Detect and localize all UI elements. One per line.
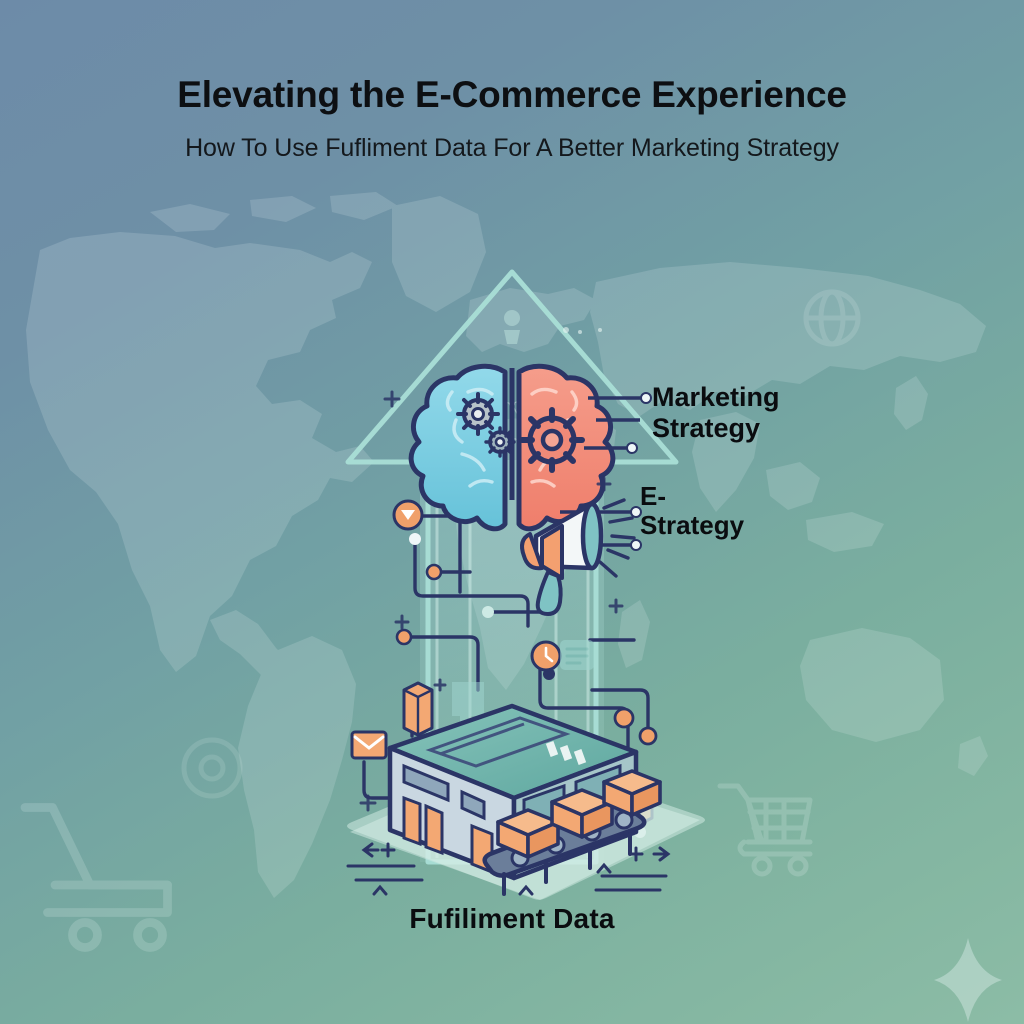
page-subtitle: How To Use Fufliment Data For A Better M… bbox=[0, 134, 1024, 163]
callout-marketing-strategy: Marketing Strategy bbox=[652, 382, 780, 443]
callout-line-1: E- bbox=[640, 482, 744, 511]
envelope-icon bbox=[352, 732, 386, 758]
document-icon bbox=[560, 640, 594, 670]
gear-icon bbox=[486, 428, 514, 456]
delivery-truck-badge-icon bbox=[394, 501, 422, 529]
parcel-box-icon bbox=[604, 771, 660, 815]
bulb-icon bbox=[504, 310, 520, 344]
label-fulfilment-data: Fufiliment Data bbox=[0, 903, 1024, 935]
page-title: Elevating the E-Commerce Experience bbox=[0, 74, 1024, 116]
gear-icon bbox=[522, 410, 582, 470]
parcel-box-icon bbox=[404, 683, 432, 735]
callout-line-1: Marketing bbox=[652, 382, 780, 413]
callout-e-strategy: E- Strategy bbox=[640, 482, 744, 541]
gear-icon bbox=[458, 394, 498, 434]
callout-line-2: Strategy bbox=[652, 413, 780, 444]
infographic-canvas: Elevating the E-Commerce Experience How … bbox=[0, 0, 1024, 1024]
clock-badge-icon bbox=[532, 642, 560, 670]
callout-line-2: Strategy bbox=[640, 511, 744, 540]
